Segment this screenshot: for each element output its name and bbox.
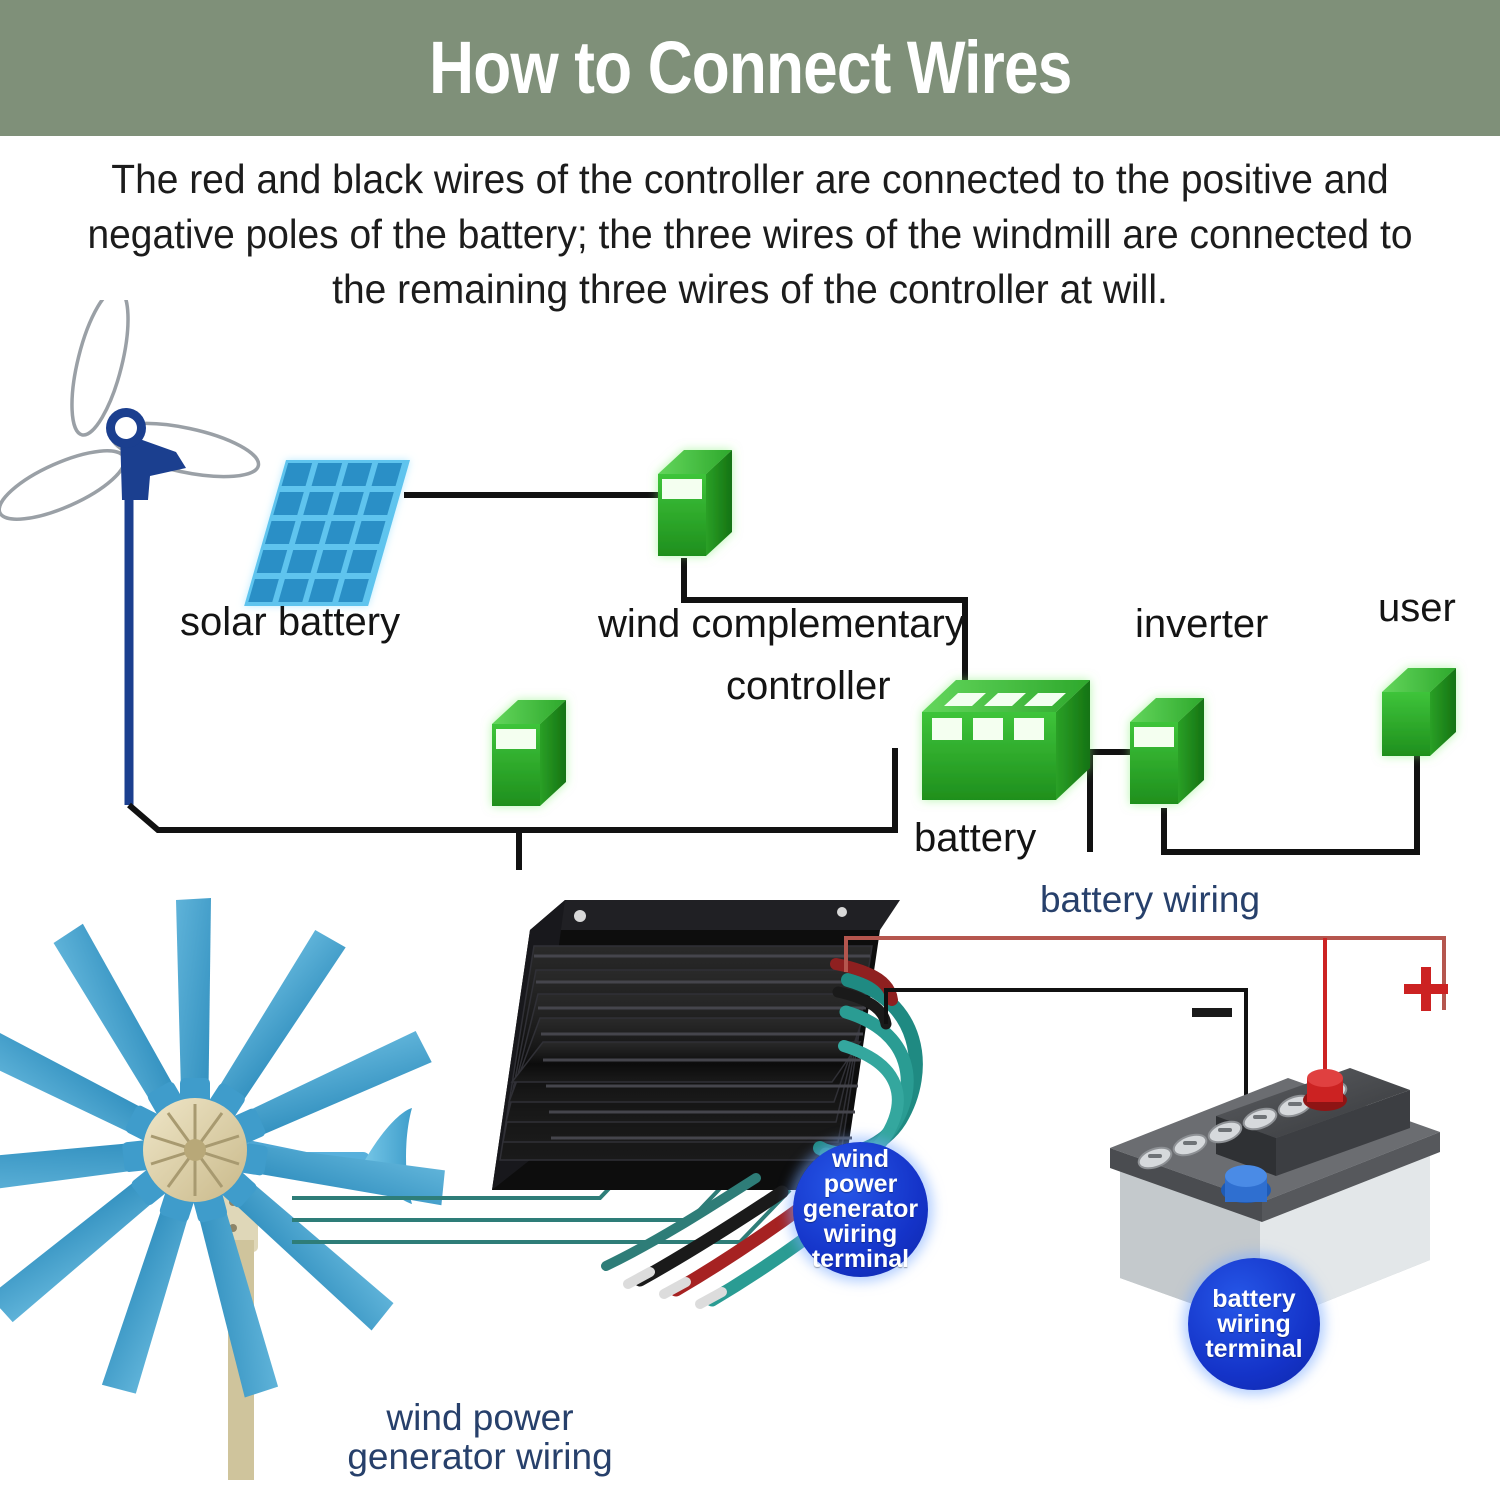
label-controller: controller xyxy=(726,664,891,709)
green-box-icon-controller xyxy=(658,450,732,556)
battery-negative-terminal xyxy=(1221,1165,1271,1203)
wind-turbine-icon xyxy=(0,300,263,805)
positive-sign-marker xyxy=(1404,967,1448,1011)
intro-paragraph: The red and black wires of the controlle… xyxy=(64,152,1436,317)
solar-panel-icon xyxy=(244,460,410,606)
green-box-icon-inverter xyxy=(1130,698,1204,804)
header-bar: How to Connect Wires xyxy=(0,0,1500,136)
label-wind-complementary: wind complementary xyxy=(598,602,965,647)
label-inverter: inverter xyxy=(1135,602,1268,647)
photos-svg xyxy=(0,860,1500,1487)
label-user: user xyxy=(1378,586,1456,631)
green-box-icon-secondary xyxy=(492,700,566,806)
wind-turbine-photo xyxy=(0,898,447,1480)
wiring-schematic-diagram: solar battery wind complementary control… xyxy=(0,300,1500,870)
green-battery-box-icon xyxy=(922,680,1090,800)
label-battery-wiring: battery wiring xyxy=(1010,880,1290,919)
label-solar-battery: solar battery xyxy=(180,600,400,645)
turbine-hub xyxy=(143,1098,247,1202)
badge-battery-wiring-terminal: batterywiringterminal xyxy=(1188,1258,1320,1390)
badge-wind-generator-terminal: windpowergeneratorwiringterminal xyxy=(793,1142,928,1277)
battery-positive-terminal xyxy=(1303,1069,1347,1111)
battery-positive-wire xyxy=(846,938,1444,1010)
page-title: How to Connect Wires xyxy=(429,31,1071,105)
label-battery: battery xyxy=(914,816,1036,861)
schematic-svg xyxy=(0,300,1500,870)
green-cube-icon-user xyxy=(1382,668,1456,756)
product-photo-area: battery wiring wind power generator wiri… xyxy=(0,860,1500,1487)
negative-sign-marker xyxy=(1192,1008,1232,1017)
label-generator-wiring: wind power generator wiring xyxy=(320,1398,640,1476)
